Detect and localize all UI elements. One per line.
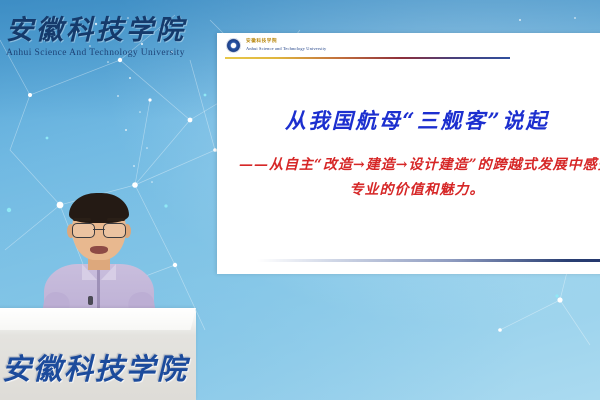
slide-footer-rule: [257, 259, 600, 262]
presenter-eyebrow-left: [73, 218, 91, 221]
slide-header-rule: [225, 57, 510, 59]
video-frame: 安徽科技学院 Anhui Science And Technology Univ…: [0, 0, 600, 400]
slide-subtitle: ——从自主“改造→建造→设计建造”的跨越式发展中感受 专业的价值和魅力。: [239, 153, 600, 202]
slide-header-text: 安徽科技学院 Anhui Science and Technology Univ…: [246, 39, 326, 51]
shirt-collar-right: [101, 264, 116, 280]
slide-subtitle-line1: ——从自主“改造→建造→设计建造”的跨越式发展中感受: [239, 157, 600, 173]
glasses-lens-left: [72, 223, 95, 238]
glasses-icon: [72, 223, 126, 236]
presenter: [34, 196, 164, 326]
slide-title: 从我国航母“三舰客”说起: [217, 105, 600, 135]
glasses-lens-right: [103, 223, 126, 238]
lapel-microphone: [88, 296, 93, 305]
shirt-collar-left: [82, 264, 97, 280]
watermark-name-en: Anhui Science And Technology University: [6, 48, 196, 58]
university-watermark-logo: 安徽科技学院 Anhui Science And Technology Univ…: [6, 8, 196, 58]
presentation-slide[interactable]: 安徽科技学院 Anhui Science and Technology Univ…: [217, 33, 600, 274]
slide-subtitle-line2: 专业的价值和魅力。: [239, 178, 595, 203]
presenter-mouth: [90, 246, 108, 254]
desk-top-surface: [0, 308, 196, 330]
university-seal-icon: [226, 38, 241, 53]
slide-header-name-en: Anhui Science and Technology University: [246, 46, 326, 52]
watermark-name-cn: 安徽科技学院: [6, 8, 196, 47]
desk-university-label: 安徽科技学院: [2, 346, 188, 388]
slide-header: 安徽科技学院 Anhui Science and Technology Univ…: [226, 38, 326, 53]
presenter-eyebrow-right: [107, 218, 125, 221]
lectern-desk: 安徽科技学院: [0, 308, 196, 400]
